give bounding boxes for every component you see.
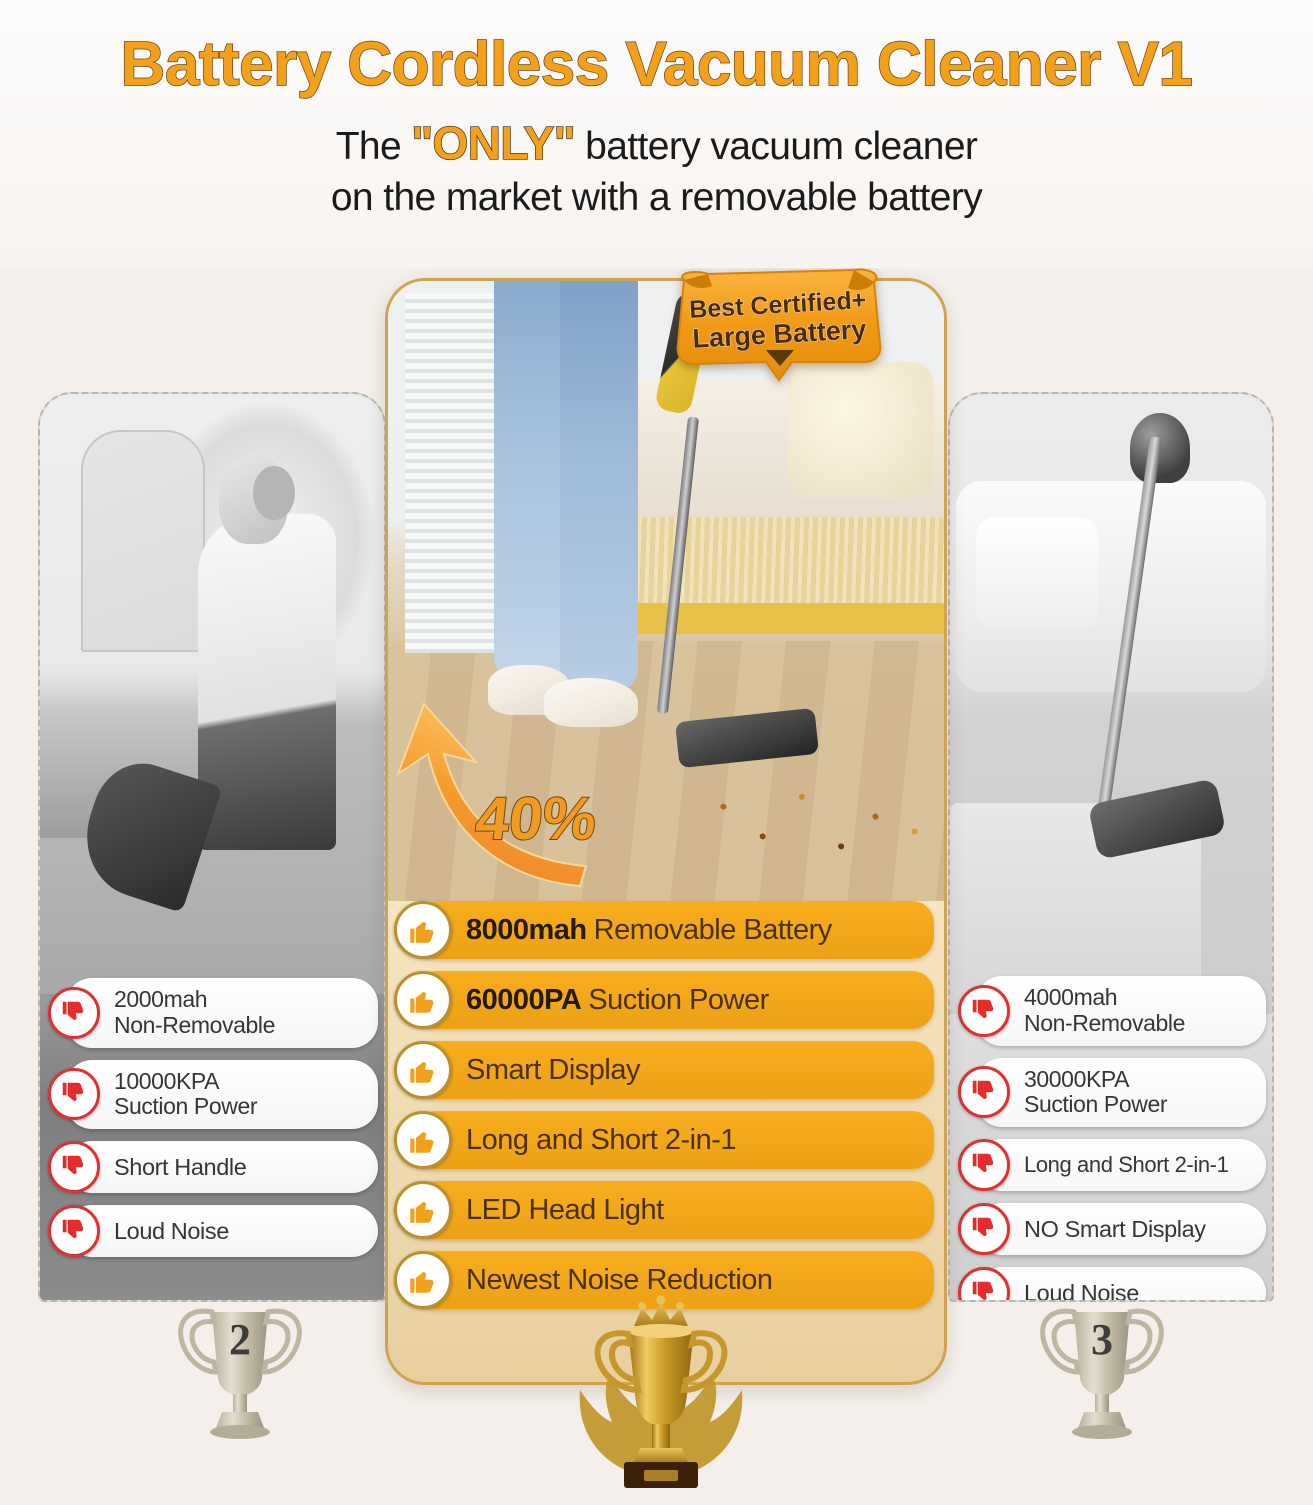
panel-competitor-2: 2000mahNon-Removable 10000KPASuction Pow… xyxy=(38,392,386,1302)
trophy-crown-laurel-icon xyxy=(556,1290,766,1500)
list-item: 60000PASuction Power xyxy=(394,971,934,1029)
subtitle-pre: The xyxy=(336,125,412,168)
list-item: Smart Display xyxy=(394,1041,934,1099)
list-item-label: 30000KPASuction Power xyxy=(976,1058,1266,1128)
list-item-label: 10000KPASuction Power xyxy=(66,1060,378,1130)
list-item: 8000mahRemovable Battery xyxy=(394,901,934,959)
floor-debris-shape xyxy=(699,777,944,876)
list-item-label: 8000mahRemovable Battery xyxy=(414,901,934,959)
wall-frame-shape xyxy=(81,430,205,652)
throw-blanket-edge-shape xyxy=(633,603,944,634)
list-item-label: Long and Short 2-in-1 xyxy=(414,1111,934,1169)
list-item-label: 60000PASuction Power xyxy=(414,971,934,1029)
feature-list-competitor-2: 2000mahNon-Removable 10000KPASuction Pow… xyxy=(40,978,384,1269)
growth-percent-label: 40% xyxy=(472,784,599,853)
trophy-icon xyxy=(160,1286,320,1446)
list-item: Short Handle xyxy=(48,1141,378,1193)
feature-list-competitor-3: 4000mahNon-Removable 30000KPASuction Pow… xyxy=(950,976,1272,1302)
thumbs-up-icon xyxy=(394,1181,452,1239)
trophy-rank-label: 2 xyxy=(160,1314,320,1365)
thumbs-down-icon xyxy=(48,1068,100,1120)
person-leg-left-shape xyxy=(494,281,566,678)
person-hair-shape xyxy=(253,466,294,520)
list-item: 30000KPASuction Power xyxy=(958,1058,1266,1128)
thumbs-down-icon xyxy=(958,1203,1010,1255)
thumbs-down-icon xyxy=(958,985,1010,1037)
list-item-label: Loud Noise xyxy=(66,1205,378,1257)
trophy-rank-1 xyxy=(556,1290,766,1500)
list-item-label: Smart Display xyxy=(414,1041,934,1099)
thumbs-up-icon xyxy=(394,1251,452,1309)
thumbs-down-icon xyxy=(48,1205,100,1257)
list-item-label: Long and Short 2-in-1 xyxy=(976,1139,1266,1191)
subtitle-only-emphasis: "ONLY" xyxy=(411,117,575,169)
list-item-label: NO Smart Display xyxy=(976,1203,1266,1255)
best-certified-badge: Best Certified+ Large Battery xyxy=(668,268,890,386)
badge-text-block: Best Certified+ Large Battery xyxy=(665,262,893,392)
list-item-label: 2000mahNon-Removable xyxy=(66,978,378,1048)
list-item: Long and Short 2-in-1 xyxy=(958,1139,1266,1191)
cushion-shape xyxy=(976,518,1098,630)
panel-competitor-3: 4000mahNon-Removable 30000KPASuction Pow… xyxy=(948,392,1274,1302)
thumbs-down-icon xyxy=(48,1141,100,1193)
person-leg-right-shape xyxy=(560,281,638,690)
header: Battery Cordless Vacuum Cleaner V1 The "… xyxy=(0,0,1313,268)
subtitle-line-2: on the market with a removable battery xyxy=(0,173,1313,223)
thumbs-up-icon xyxy=(394,971,452,1029)
trophy-rank-2: 2 xyxy=(160,1286,320,1446)
thumbs-down-icon xyxy=(48,987,100,1039)
list-item-value: 8000mah xyxy=(466,914,587,947)
trophy-rank-3: 3 xyxy=(1022,1286,1182,1446)
thumbs-down-icon xyxy=(958,1066,1010,1118)
thumbs-up-icon xyxy=(394,901,452,959)
trophy-rank-label: 3 xyxy=(1022,1314,1182,1365)
growth-arrow: 40% xyxy=(390,700,620,890)
list-item: NO Smart Display xyxy=(958,1203,1266,1255)
thumbs-down-icon xyxy=(958,1139,1010,1191)
list-item: Loud Noise xyxy=(48,1205,378,1257)
list-item-label: LED Head Light xyxy=(414,1181,934,1239)
list-item: 4000mahNon-Removable xyxy=(958,976,1266,1046)
list-item: LED Head Light xyxy=(394,1181,934,1239)
page-title: Battery Cordless Vacuum Cleaner V1 xyxy=(0,34,1313,96)
list-item: 2000mahNon-Removable xyxy=(48,978,378,1048)
photo-competitor-3 xyxy=(950,394,1272,1014)
list-item-label: 4000mahNon-Removable xyxy=(976,976,1266,1046)
subtitle-post: battery vacuum cleaner xyxy=(575,125,977,168)
subtitle-line-1: The "ONLY" battery vacuum cleaner xyxy=(0,114,1313,173)
list-item-label: Short Handle xyxy=(66,1141,378,1193)
feature-list-product-v1: 8000mahRemovable Battery 60000PASuction … xyxy=(388,901,944,1321)
triangle-down-icon xyxy=(764,348,796,368)
list-item-value: 60000PA xyxy=(466,984,581,1017)
trophy-icon xyxy=(1022,1286,1182,1446)
thumbs-up-icon xyxy=(394,1041,452,1099)
list-item: Long and Short 2-in-1 xyxy=(394,1111,934,1169)
photo-competitor-2 xyxy=(40,394,384,994)
list-item: 10000KPASuction Power xyxy=(48,1060,378,1130)
thumbs-up-icon xyxy=(394,1111,452,1169)
person-body-shape xyxy=(198,514,336,850)
page-subtitle: The "ONLY" battery vacuum cleaner on the… xyxy=(0,114,1313,223)
